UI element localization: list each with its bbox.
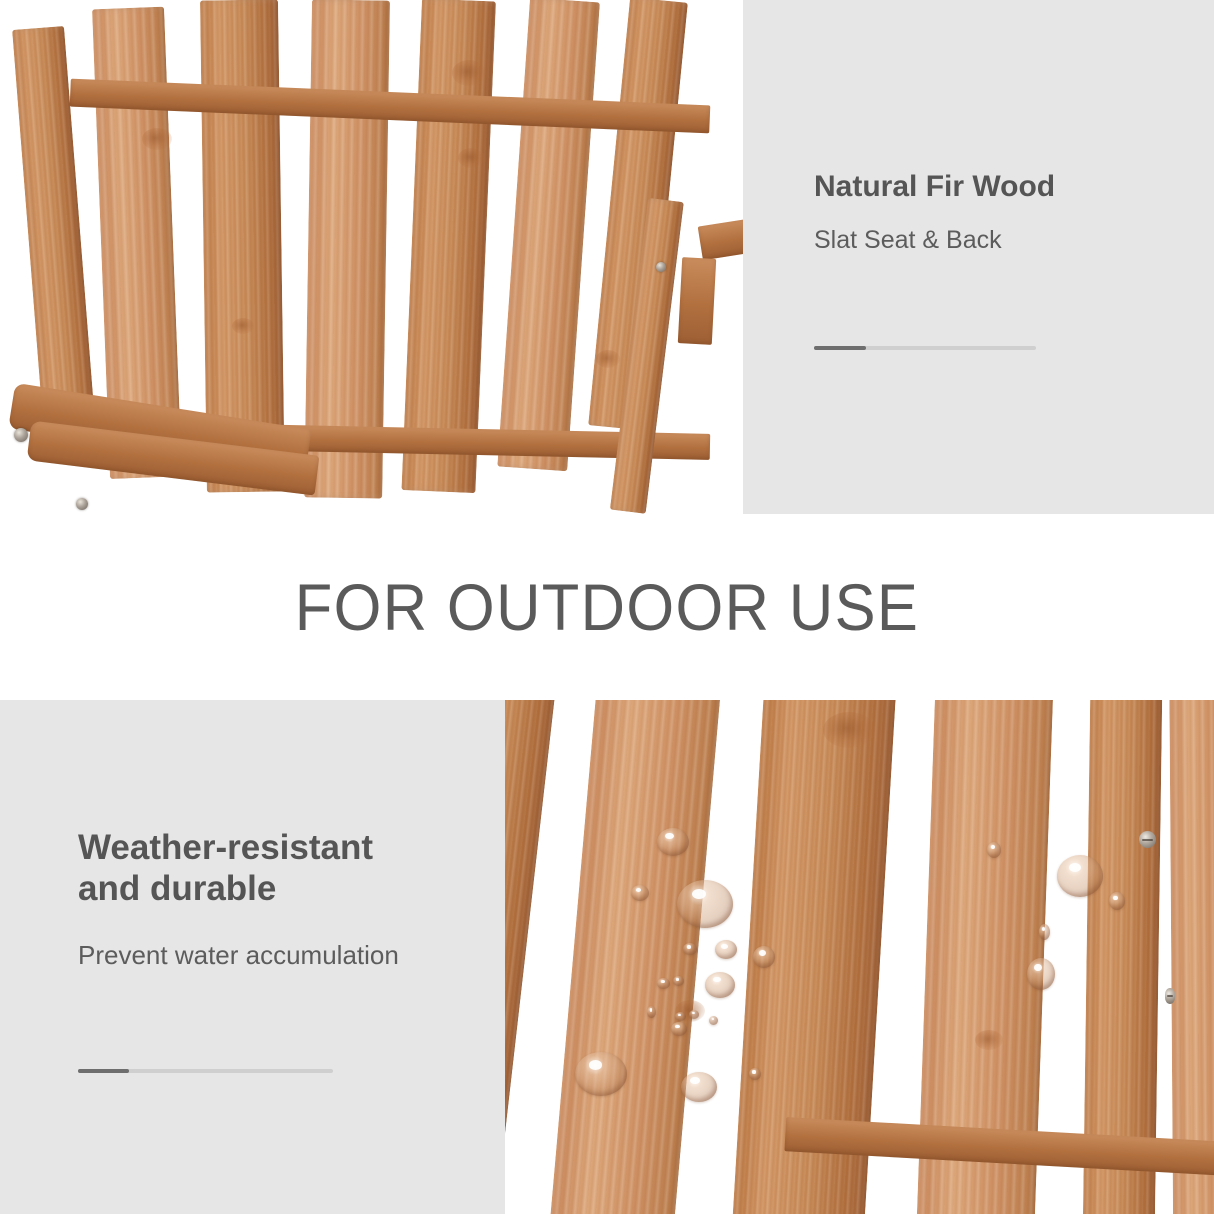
weather-resistant-panel: Weather-resistant and durable Prevent wa…	[0, 700, 505, 1214]
screw-head-icon-lower	[1165, 988, 1175, 1004]
frame-bolt-icon	[76, 498, 88, 510]
feature-heading-weather-resistant: Weather-resistant and durable	[78, 828, 373, 909]
feature-progress-fill-top	[814, 346, 866, 350]
outdoor-use-banner: FOR OUTDOOR USE	[0, 514, 1214, 700]
natural-fir-wood-panel: Natural Fir Wood Slat Seat & Back	[743, 0, 1214, 514]
product-feature-infographic: Natural Fir Wood Slat Seat & Back FOR OU…	[0, 0, 1214, 1214]
feature-subheading-slat-seat-back: Slat Seat & Back	[814, 226, 1002, 255]
feature-heading-natural-fir-wood: Natural Fir Wood	[814, 170, 1055, 205]
water-droplets-photo	[505, 700, 1214, 1214]
feature-progress-fill-bottom	[78, 1069, 129, 1073]
feature-progress-bar-bottom[interactable]	[78, 1069, 333, 1073]
banner-headline: FOR OUTDOOR USE	[42, 514, 1171, 700]
seat-bolt-icon	[656, 262, 666, 272]
screw-head-icon	[1139, 831, 1156, 848]
fir-wood-chair-photo	[0, 0, 743, 514]
top-feature-section: Natural Fir Wood Slat Seat & Back	[0, 0, 1214, 514]
feature-subheading-prevent-water-accumulation: Prevent water accumulation	[78, 940, 399, 971]
bottom-feature-section: Weather-resistant and durable Prevent wa…	[0, 700, 1214, 1214]
feature-progress-bar-top[interactable]	[814, 346, 1036, 350]
armrest-bolt-icon	[14, 428, 28, 442]
